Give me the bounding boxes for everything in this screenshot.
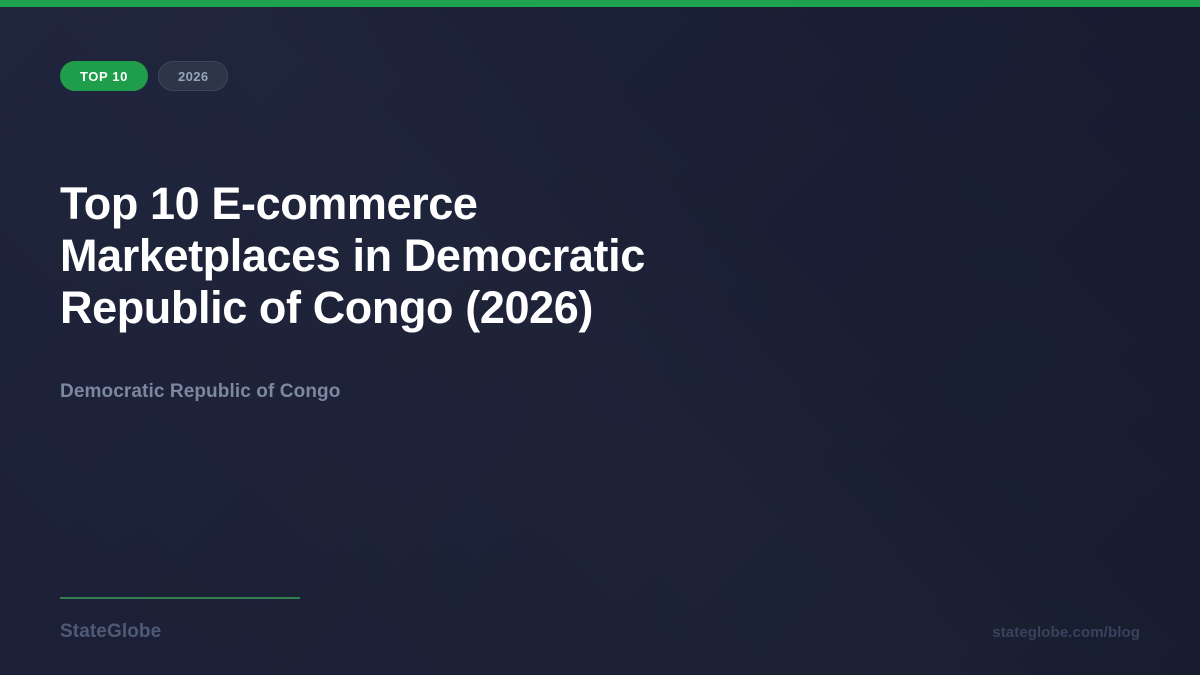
top-accent-bar	[0, 0, 1200, 7]
badge-group: TOP 10 2026	[60, 61, 228, 91]
page-title: Top 10 E-commerce Marketplaces in Democr…	[60, 178, 760, 334]
site-url[interactable]: stateglobe.com/blog	[992, 624, 1140, 641]
badge-year[interactable]: 2026	[158, 61, 229, 91]
badge-top-rank[interactable]: TOP 10	[60, 61, 148, 91]
footer-divider	[60, 597, 300, 599]
promo-card: TOP 10 2026 Top 10 E-commerce Marketplac…	[0, 0, 1200, 675]
page-subtitle: Democratic Republic of Congo	[60, 381, 340, 403]
brand-name: StateGlobe	[60, 621, 161, 643]
